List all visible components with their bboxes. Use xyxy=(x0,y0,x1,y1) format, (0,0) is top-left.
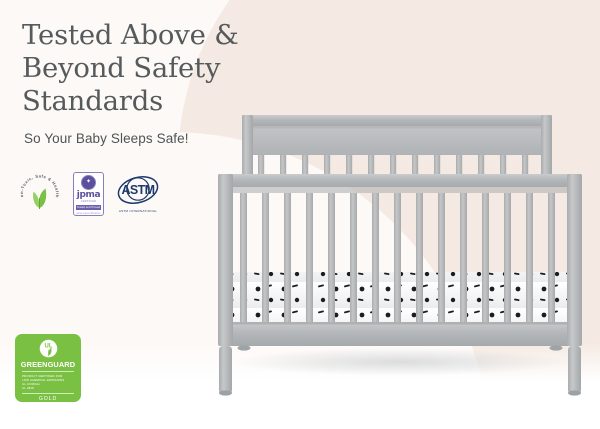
astm-logo-icon: ASTM xyxy=(116,174,160,208)
badge-jpma: ✦ jpma CERTIFIED Tested and Proved jpma.… xyxy=(73,172,104,216)
greenguard-fine-print: PRODUCT CERTIFIED FOR LOW CHEMICAL EMISS… xyxy=(22,374,74,390)
badge-astm: ASTM ASTM INTERNATIONAL xyxy=(114,171,162,216)
greenguard-title: GREENGUARD xyxy=(21,360,75,369)
promo-banner: Tested Above & Beyond Safety Standards S… xyxy=(0,0,600,429)
leaf-icon xyxy=(33,189,46,210)
badge-non-toxic-arc-text: Non-Toxic, Safe & Healthy xyxy=(16,170,60,198)
jpma-wordmark: jpma xyxy=(77,191,100,200)
svg-text:ASTM: ASTM xyxy=(121,183,154,197)
page-title: Tested Above & Beyond Safety Standards xyxy=(22,19,290,118)
jpma-wordmark-sub: CERTIFIED xyxy=(81,200,96,204)
svg-text:UL: UL xyxy=(44,343,52,349)
greenguard-divider-top xyxy=(22,371,74,372)
badge-non-toxic: Non-Toxic, Safe & Healthy xyxy=(16,170,63,217)
certification-badge-row: Non-Toxic, Safe & Healthy ✦ jpma CERTIFI… xyxy=(16,170,162,217)
greenguard-level: GOLD xyxy=(39,396,57,402)
jpma-seal-icon: ✦ xyxy=(81,175,96,190)
ul-leaf-icon: UL xyxy=(37,339,60,358)
astm-footer-text: ASTM INTERNATIONAL xyxy=(119,209,157,213)
page-subtitle: So Your Baby Sleeps Safe! xyxy=(24,131,189,146)
svg-text:Non-Toxic, Safe & Healthy: Non-Toxic, Safe & Healthy xyxy=(16,170,60,198)
jpma-bar-text: Tested and Proved xyxy=(76,205,101,210)
jpma-footer-text: jpma.org/certification xyxy=(76,212,100,215)
badge-greenguard-gold: UL GREENGUARD PRODUCT CERTIFIED FOR LOW … xyxy=(15,334,81,402)
crib-product-image xyxy=(200,100,600,420)
greenguard-divider-bottom xyxy=(22,393,74,394)
